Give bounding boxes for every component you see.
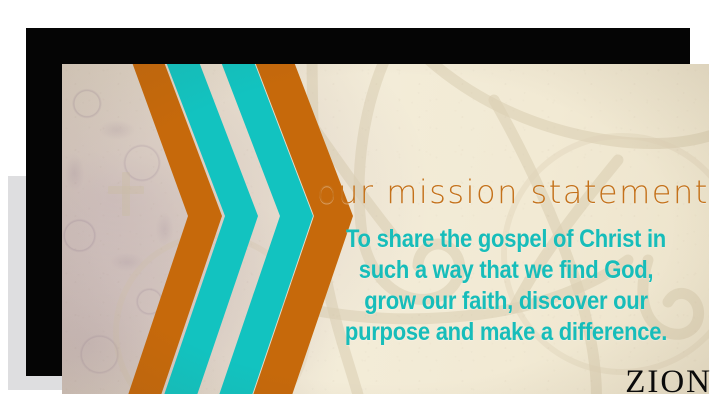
- chevron-stripe-2: [161, 64, 258, 394]
- mission-body-line-2: such a way that we find God,: [340, 255, 673, 286]
- picture-frame: our mission statement To share the gospe…: [26, 28, 690, 376]
- chevron-stripe-3: [216, 64, 313, 394]
- mission-body-line-3: grow our faith, discover our: [340, 286, 673, 317]
- mission-body-line-4: purpose and make a difference.: [340, 317, 673, 348]
- mission-text-block: our mission statement To share the gospe…: [317, 176, 695, 348]
- mission-headline: our mission statement: [317, 176, 695, 208]
- banner-image: our mission statement To share the gospe…: [0, 0, 720, 405]
- artwork-canvas: our mission statement To share the gospe…: [62, 64, 709, 394]
- damask-pattern-texture: [62, 64, 187, 394]
- chevron-stripe-1: [125, 64, 222, 394]
- zion-wordmark: ZION: [625, 366, 712, 399]
- mission-body-line-1: To share the gospel of Christ in: [340, 224, 673, 255]
- mission-body: To share the gospel of Christ in such a …: [317, 224, 695, 348]
